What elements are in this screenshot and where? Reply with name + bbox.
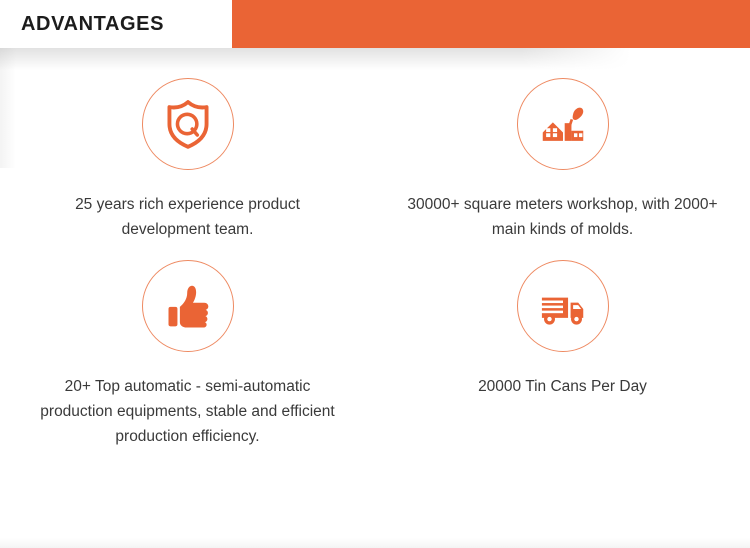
advantage-text-2: 30000+ square meters workshop, with 2000… xyxy=(403,192,723,242)
advantage-item-1: 25 years rich experience product develop… xyxy=(0,78,375,242)
advantage-text-3: 20+ Top automatic - semi-automatic produ… xyxy=(28,374,348,449)
thumbs-up-icon xyxy=(142,260,234,352)
advantage-item-4: 20000 Tin Cans Per Day xyxy=(375,242,750,449)
advantages-row-1: 25 years rich experience product develop… xyxy=(0,78,750,242)
left-edge-shade xyxy=(0,48,16,168)
factory-icon xyxy=(517,78,609,170)
page-title: ADVANTAGES xyxy=(21,0,164,48)
advantage-text-1: 25 years rich experience product develop… xyxy=(33,192,343,242)
advantage-text-4: 20000 Tin Cans Per Day xyxy=(408,374,718,399)
advantages-row-2: 20+ Top automatic - semi-automatic produ… xyxy=(0,242,750,449)
advantage-item-2: 30000+ square meters workshop, with 2000… xyxy=(375,78,750,242)
advantages-page: ADVANTAGES 25 years rich experience prod… xyxy=(0,0,750,548)
bottom-band xyxy=(0,538,750,548)
advantage-item-3: 20+ Top automatic - semi-automatic produ… xyxy=(0,242,375,449)
section-banner: ADVANTAGES xyxy=(0,0,750,48)
banner-shadow-fade xyxy=(520,48,650,70)
advantages-grid: 25 years rich experience product develop… xyxy=(0,78,750,450)
delivery-truck-icon xyxy=(517,260,609,352)
shield-quality-icon xyxy=(142,78,234,170)
